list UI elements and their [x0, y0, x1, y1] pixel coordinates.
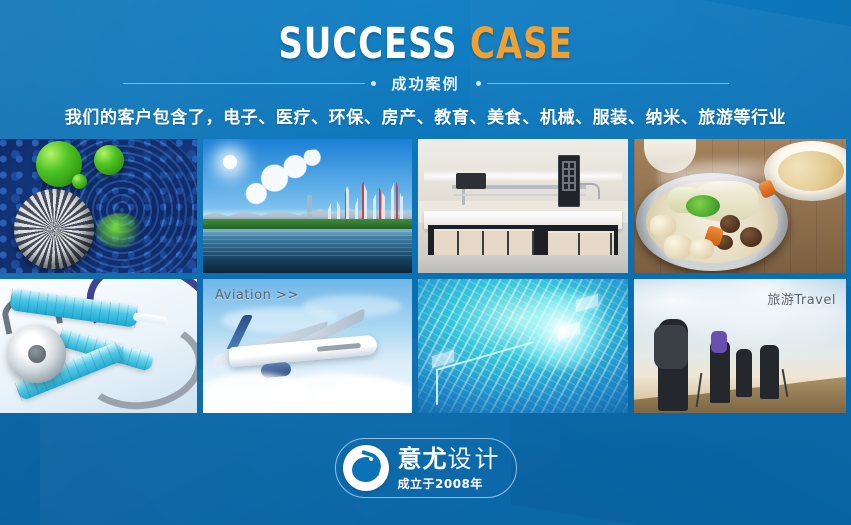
case-tile-travel[interactable]: 旅游Travel	[634, 279, 846, 413]
logo-tagline: 成立于2008年	[398, 478, 516, 490]
lab-monitor	[456, 173, 486, 189]
bird-eye-shape	[369, 457, 373, 461]
industrial-plant	[328, 169, 408, 225]
case-tile-food[interactable]	[634, 139, 846, 273]
case-tile-nano[interactable]	[0, 139, 197, 273]
title-divider: 成功案例	[123, 72, 729, 94]
case-tile-medical[interactable]	[0, 279, 197, 413]
hiker	[710, 341, 730, 403]
divider-line-right	[487, 83, 729, 84]
divider-dot-right	[476, 81, 481, 86]
lab-lighting	[424, 169, 622, 183]
title-case: CASE	[470, 19, 573, 69]
logo-text-block: 意尤设计 成立于2008年	[389, 447, 516, 490]
water-reflection	[203, 231, 412, 259]
page-title: SUCCESS CASE	[51, 22, 800, 66]
stethoscope-chestpiece	[8, 325, 66, 383]
hiker	[760, 345, 779, 399]
green-vegetable	[686, 195, 720, 217]
nano-sphere	[94, 145, 124, 175]
fullerene-molecule	[14, 189, 94, 269]
bird-logo-icon	[343, 445, 389, 491]
nano-sphere	[72, 174, 87, 189]
lab-floor	[418, 255, 628, 273]
divider-dot-left	[371, 81, 376, 86]
case-tile-electronics[interactable]	[418, 279, 628, 413]
case-tile-aviation[interactable]: Aviation >>	[203, 279, 412, 413]
case-gallery-grid: Aviation >> 旅游Travel	[0, 139, 851, 416]
subtitle-cn: 成功案例	[382, 73, 470, 94]
hiker	[736, 349, 752, 397]
banner-header: SUCCESS CASE 成功案例 我们的客户包含了，电子、医疗、环保、房产、教…	[0, 0, 851, 128]
mushroom	[740, 227, 762, 247]
logo-brand-light: 设计	[448, 445, 502, 473]
logo-brand: 意尤设计	[398, 447, 516, 471]
case-tile-environment[interactable]	[203, 139, 412, 273]
hiker	[658, 319, 688, 411]
divider-line-left	[123, 83, 365, 84]
steam	[658, 157, 768, 191]
success-case-banner: SUCCESS CASE 成功案例 我们的客户包含了，电子、医疗、环保、房产、教…	[0, 0, 851, 525]
title-success: SUCCESS	[278, 19, 457, 69]
travel-caption: 旅游Travel	[767, 289, 836, 308]
smoke-plume	[234, 148, 329, 211]
case-tile-lab[interactable]	[418, 139, 628, 273]
aviation-caption: Aviation >>	[215, 288, 299, 303]
industry-description: 我们的客户包含了，电子、医疗、环保、房产、教育、美食、机械、服装、纳米、旅游等行…	[0, 103, 851, 128]
chicken-piece	[664, 235, 692, 259]
company-logo[interactable]: 意尤设计 成立于2008年	[335, 438, 517, 498]
nano-particles	[96, 213, 144, 249]
logo-brand-bold: 意尤	[398, 445, 448, 473]
chicken-piece	[650, 215, 676, 237]
lab-faucet	[580, 183, 600, 199]
control-panel	[558, 155, 580, 207]
stethoscope-tube	[75, 315, 197, 413]
chicken-piece	[690, 239, 714, 259]
